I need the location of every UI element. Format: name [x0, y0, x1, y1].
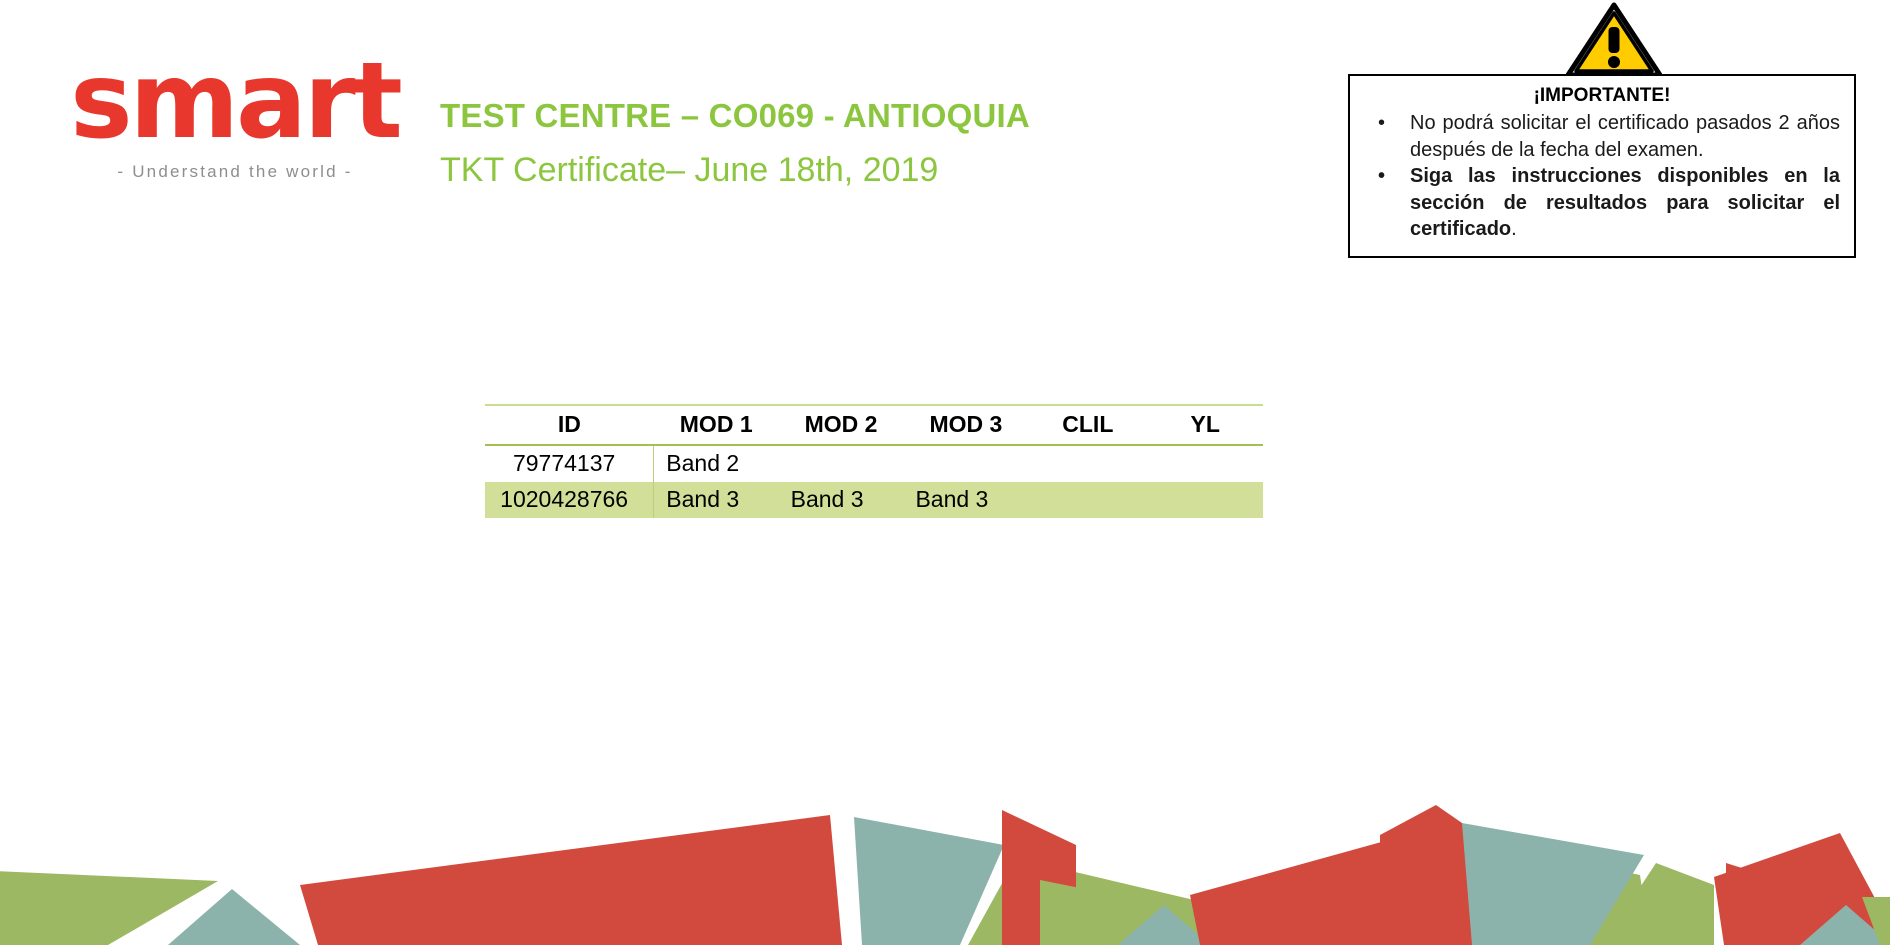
cell-yl — [1147, 445, 1263, 482]
important-notice-box: ¡IMPORTANTE! No podrá solicitar el certi… — [1348, 74, 1856, 258]
notice-bullet-2-text: Siga las instrucciones disponibles en la… — [1410, 165, 1840, 240]
cell-mod1: Band 2 — [654, 445, 779, 482]
table-header-row: ID MOD 1 MOD 2 MOD 3 CLIL YL — [485, 405, 1263, 445]
cell-mod3 — [903, 445, 1028, 482]
cell-mod1: Band 3 — [654, 482, 779, 518]
cell-id: 1020428766 — [485, 482, 654, 518]
cell-clil — [1028, 445, 1147, 482]
cell-mod2 — [779, 445, 904, 482]
notice-bullet-1: No podrá solicitar el certificado pasado… — [1364, 110, 1840, 163]
brand-logo: smart - Understand the world - — [70, 42, 400, 202]
notice-bullet-2-tail: . — [1511, 218, 1517, 240]
page-subtitle: TKT Certificate– June 18th, 2019 — [440, 150, 1100, 190]
warning-triangle-icon — [1566, 2, 1662, 78]
th-clil: CLIL — [1028, 405, 1147, 445]
th-mod3: MOD 3 — [903, 405, 1028, 445]
th-mod1: MOD 1 — [654, 405, 779, 445]
cell-id: 79774137 — [485, 445, 654, 482]
logo-tagline: - Understand the world - — [70, 162, 400, 182]
results-table: ID MOD 1 MOD 2 MOD 3 CLIL YL 79774137 Ba… — [485, 404, 1263, 518]
logo-wordmark: smart — [70, 42, 400, 160]
notice-bullet-1-text: No podrá solicitar el certificado pasado… — [1410, 112, 1840, 161]
table-header: ID MOD 1 MOD 2 MOD 3 CLIL YL — [485, 405, 1263, 445]
cell-mod3: Band 3 — [903, 482, 1028, 518]
th-id: ID — [485, 405, 654, 445]
page-heading: TEST CENTRE – CO069 - ANTIOQUIA TKT Cert… — [440, 96, 1100, 190]
table-row: 79774137 Band 2 — [485, 445, 1263, 482]
page-title: TEST CENTRE – CO069 - ANTIOQUIA — [440, 96, 1100, 136]
notice-bullet-2: Siga las instrucciones disponibles en la… — [1364, 163, 1840, 243]
notice-bullet-list: No podrá solicitar el certificado pasado… — [1364, 110, 1840, 243]
cell-clil — [1028, 482, 1147, 518]
th-mod2: MOD 2 — [779, 405, 904, 445]
notice-title: ¡IMPORTANTE! — [1364, 84, 1840, 108]
cell-yl — [1147, 482, 1263, 518]
angular-banner-footer — [0, 685, 1890, 945]
th-yl: YL — [1147, 405, 1263, 445]
table-body: 79774137 Band 2 1020428766 Band 3 Band 3… — [485, 445, 1263, 518]
slide-canvas: smart - Understand the world - TEST CENT… — [0, 0, 1890, 945]
cell-mod2: Band 3 — [779, 482, 904, 518]
table-row: 1020428766 Band 3 Band 3 Band 3 — [485, 482, 1263, 518]
